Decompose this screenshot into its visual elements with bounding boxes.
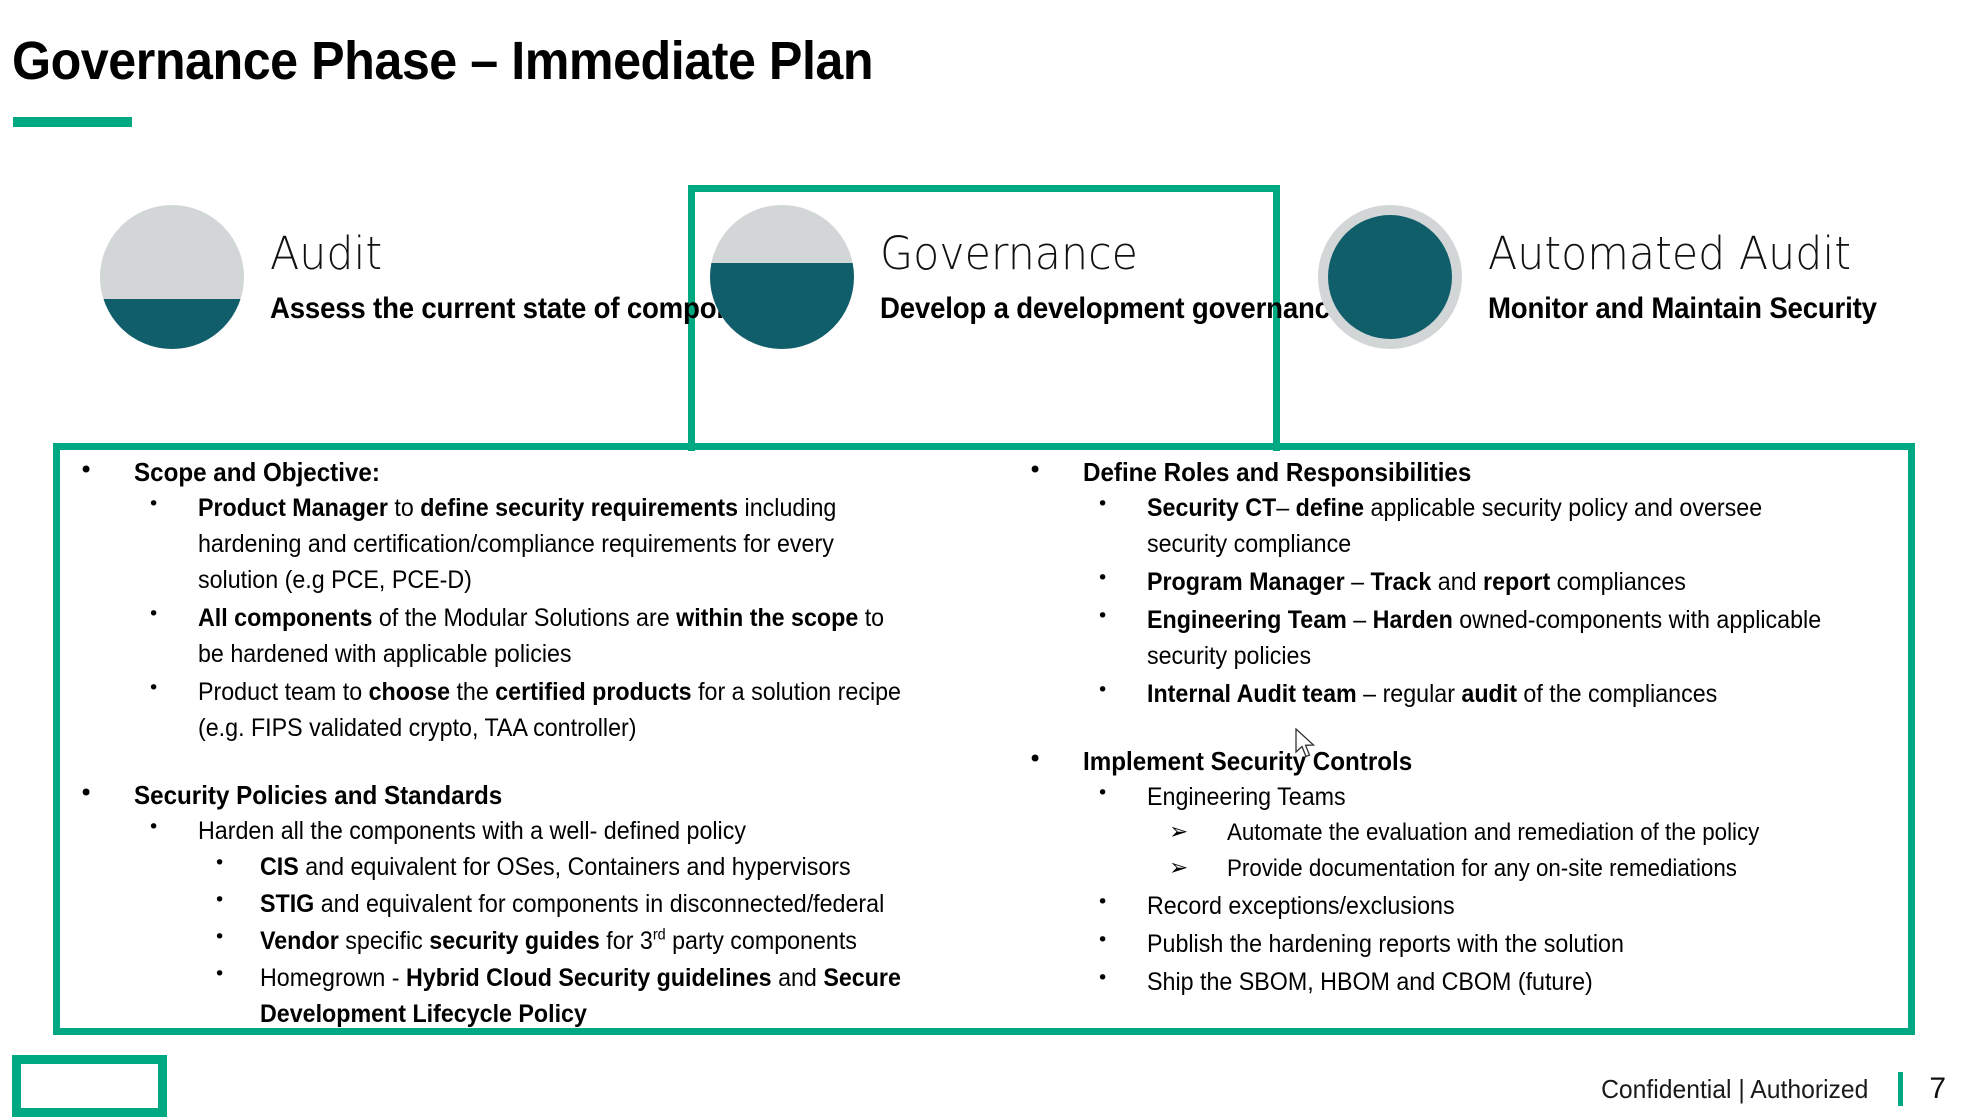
bullet-glyph: • [214, 961, 225, 988]
bullet-glyph: • [148, 601, 159, 628]
governance-gauge-icon [710, 205, 854, 349]
bullet-glyph: • [1097, 565, 1108, 592]
right-bullet-list: •Define Roles and Responsibilities•Secur… [1020, 455, 1891, 1000]
gauge-fill [1328, 215, 1452, 339]
gauge-fill [100, 299, 244, 349]
left-column: •Scope and Objective:•Product Manager to… [53, 455, 984, 1036]
footer-confidentiality-text: Confidential | Authorized [1601, 1074, 1868, 1105]
list-item-arrow: ➢Provide documentation for any on-site r… [1147, 852, 1891, 887]
bullet-glyph: • [214, 924, 225, 951]
page-title: Governance Phase – Immediate Plan [12, 30, 873, 92]
mouse-cursor-icon [1295, 728, 1317, 760]
bullet-glyph: • [148, 675, 159, 702]
left-bullet-list: •Scope and Objective:•Product Manager to… [71, 455, 960, 1032]
list-item: •Internal Audit team – regular audit of … [1083, 676, 1891, 712]
bullet-text: Automate the evaluation and remediation … [1227, 816, 1845, 851]
list-item: •Product Manager to define security requ… [134, 490, 960, 598]
bullet-text: Homegrown - Hybrid Cloud Security guidel… [260, 960, 911, 1032]
gauge-fill [710, 263, 854, 349]
footer-divider [1898, 1072, 1903, 1106]
bullet-glyph: • [214, 887, 225, 914]
title-underline-rule [13, 117, 132, 127]
brand-logo-placeholder [12, 1055, 167, 1117]
sub-list: •Product Manager to define security requ… [134, 490, 960, 746]
content-columns: •Scope and Objective:•Product Manager to… [53, 455, 1915, 1036]
bullet-glyph: • [1097, 603, 1108, 630]
page-number: 7 [1929, 1072, 1946, 1106]
bullet-text: Ship the SBOM, HBOM and CBOM (future) [1147, 964, 1839, 1000]
bullet-glyph: • [1097, 677, 1108, 704]
list-item-heading: •Implement Security Controls•Engineering… [1020, 744, 1891, 1000]
bullet-glyph: ➢ [1169, 816, 1188, 849]
bullet-glyph: • [148, 491, 159, 518]
bullet-glyph: • [79, 777, 93, 809]
bullet-text: Program Manager – Track and report compl… [1147, 564, 1839, 600]
list-item: •Ship the SBOM, HBOM and CBOM (future) [1083, 964, 1891, 1000]
section-gap [71, 750, 960, 778]
list-item: •Security CT– define applicable security… [1083, 490, 1891, 562]
bullet-text: Security Policies and Standards [134, 778, 902, 813]
bullet-text: Define Roles and Responsibilities [1083, 455, 1834, 490]
bullet-glyph: • [1097, 780, 1108, 807]
sub-sub-list: •CIS and equivalent for OSes, Containers… [198, 849, 960, 1032]
right-column: •Define Roles and Responsibilities•Secur… [984, 455, 1915, 1036]
bullet-text: STIG and equivalent for components in di… [260, 886, 911, 922]
list-item: •STIG and equivalent for components in d… [198, 886, 960, 922]
list-item: •Publish the hardening reports with the … [1083, 926, 1891, 962]
list-item-heading: •Define Roles and Responsibilities•Secur… [1020, 455, 1891, 712]
list-item: •Record exceptions/exclusions [1083, 888, 1891, 924]
list-item: •Product team to choose the certified pr… [134, 674, 960, 746]
bullet-text: Harden all the components with a well- d… [198, 813, 907, 849]
bullet-text: CIS and equivalent for OSes, Containers … [260, 849, 911, 885]
section-gap [1020, 716, 1891, 744]
list-item-heading: •Scope and Objective:•Product Manager to… [71, 455, 960, 746]
list-item: •Vendor specific security guides for 3rd… [198, 923, 960, 959]
bullet-text: Engineering Teams [1147, 779, 1839, 815]
bullet-glyph: • [1097, 889, 1108, 916]
bullet-glyph: • [1028, 454, 1042, 486]
bullet-glyph: • [1097, 965, 1108, 992]
list-item: •Engineering Team – Harden owned-compone… [1083, 602, 1891, 674]
sub-list: •Engineering Teams➢Automate the evaluati… [1083, 779, 1891, 1000]
bullet-text: Product team to choose the certified pro… [198, 674, 907, 746]
list-item: •Engineering Teams➢Automate the evaluati… [1083, 779, 1891, 886]
list-item-heading: •Security Policies and Standards•Harden … [71, 778, 960, 1032]
bullet-glyph: • [1028, 743, 1042, 775]
list-item: •Harden all the components with a well- … [134, 813, 960, 1032]
automated-audit-gauge-icon [1318, 205, 1462, 349]
list-item: •Homegrown - Hybrid Cloud Security guide… [198, 960, 960, 1032]
bullet-text: Product Manager to define security requi… [198, 490, 907, 598]
bullet-glyph: • [79, 454, 93, 486]
bullet-glyph: • [214, 850, 225, 877]
list-item: •All components of the Modular Solutions… [134, 600, 960, 672]
phase-subtitle: Monitor and Maintain Security [1488, 292, 1877, 327]
bullet-glyph: ➢ [1169, 852, 1188, 885]
bullet-glyph: • [1097, 927, 1108, 954]
bullet-text: Engineering Team – Harden owned-componen… [1147, 602, 1839, 674]
arrow-list: ➢Automate the evaluation and remediation… [1147, 816, 1891, 886]
list-item-arrow: ➢Automate the evaluation and remediation… [1147, 816, 1891, 851]
audit-gauge-icon [100, 205, 244, 349]
bullet-text: Security CT– define applicable security … [1147, 490, 1839, 562]
slide-canvas: Governance Phase – Immediate Plan Audit … [0, 0, 1976, 1107]
list-item: •CIS and equivalent for OSes, Containers… [198, 849, 960, 885]
phase-block-automated-audit: Automated Audit Monitor and Maintain Sec… [1318, 205, 1911, 349]
bullet-glyph: • [148, 814, 159, 841]
bullet-text: Provide documentation for any on-site re… [1227, 852, 1845, 887]
bullet-text: Vendor specific security guides for 3rd … [260, 923, 911, 959]
bullet-text: Record exceptions/exclusions [1147, 888, 1839, 924]
bullet-glyph: • [1097, 491, 1108, 518]
bullet-text: Scope and Objective: [134, 455, 902, 490]
sub-list: •Harden all the components with a well- … [134, 813, 960, 1032]
bullet-text: Internal Audit team – regular audit of t… [1147, 676, 1839, 712]
list-item: •Program Manager – Track and report comp… [1083, 564, 1891, 600]
sub-list: •Security CT– define applicable security… [1083, 490, 1891, 712]
bullet-text: Implement Security Controls [1083, 744, 1834, 779]
bullet-text: Publish the hardening reports with the s… [1147, 926, 1839, 962]
phase-name: Automated Audit [1488, 231, 1889, 277]
footer: Confidential | Authorized 7 [1587, 1072, 1976, 1106]
bullet-text: All components of the Modular Solutions … [198, 600, 907, 672]
